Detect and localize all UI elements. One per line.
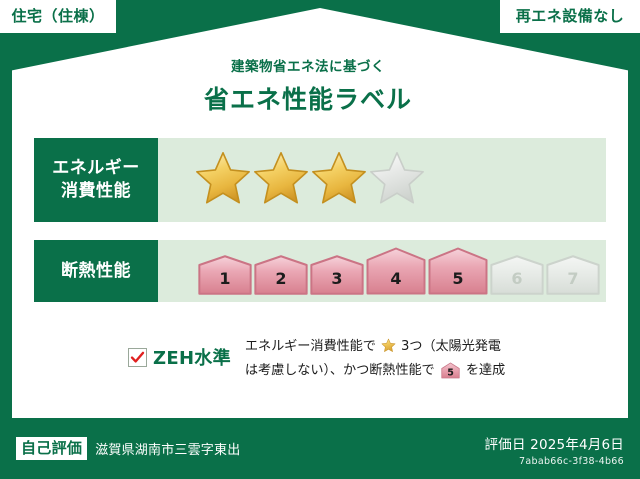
evaluation-date-value: 2025年4月6日 [530,437,624,453]
zeh-desc-part1: エネルギー消費性能で [245,339,376,354]
star-icon-filled [310,150,368,210]
insulation-label-text: 断熱性能 [61,260,131,283]
star-icon-empty [368,150,426,210]
property-address: 滋賀県湖南市三雲字東出 [95,439,240,458]
energy-label-line2: 消費性能 [61,180,131,203]
checkmark-icon [128,348,147,367]
star-icon-inline [377,342,400,357]
title-block: 建築物省エネ法に基づく 省エネ性能ラベル [0,55,616,116]
insulation-level-number: 5 [428,271,488,287]
insulation-level-scale: 1234567 [198,247,600,295]
insulation-level-number: 3 [310,271,364,287]
insulation-performance-label: 断熱性能 [34,240,158,302]
insulation-performance-value: 1234567 [158,240,606,302]
insulation-level-on: 5 [428,247,488,295]
badge-renewable-energy: 再エネ設備なし [500,0,640,33]
badge-building-type: 住宅（住棟） [0,0,116,33]
page-title: 省エネ性能ラベル [0,80,616,116]
insulation-level-number: 4 [366,271,426,287]
insulation-level-number: 1 [198,271,252,287]
svg-text:5: 5 [447,368,454,379]
zeh-standard-label: ZEH水準 [153,344,231,370]
energy-performance-label: 住宅（住棟） 再エネ設備なし 建築物省エネ法に基づく 省エネ性能ラベル エネルギ… [0,0,640,479]
evaluation-date-label: 評価日 [485,437,526,453]
insulation-level-off: 7 [546,255,600,295]
insulation-level-number: 6 [490,271,544,287]
insulation-level-off: 6 [490,255,544,295]
zeh-tag: ZEH水準 [128,336,231,370]
evaluation-date: 評価日 2025年4月6日 [485,433,624,453]
insulation-level-on: 3 [310,255,364,295]
zeh-desc-star-count: 3つ（太陽光発電 [401,339,501,354]
insulation-level-on: 1 [198,255,252,295]
insulation-level-on: 4 [366,247,426,295]
insulation-level-number: 2 [254,271,308,287]
zeh-block: ZEH水準 エネルギー消費性能で 3つ（太陽光発電 は考慮しない）、かつ断熱性能… [128,336,528,387]
insulation-performance-row: 断熱性能 1234567 [34,240,606,302]
footer-right: 評価日 2025年4月6日 7abab66c-3f38-4b66 [485,433,624,467]
insulation-level-number: 7 [546,271,600,287]
footer: 自己評価 滋賀県湖南市三雲字東出 評価日 2025年4月6日 7abab66c-… [0,423,640,479]
insulation-level-on: 2 [254,255,308,295]
zeh-desc-part3: を達成 [466,363,505,378]
title-subtitle: 建築物省エネ法に基づく [0,55,616,75]
energy-label-line1: エネルギー [52,157,140,180]
energy-performance-value [158,138,606,222]
zeh-desc-part2: は考慮しない）、かつ断熱性能で [245,363,435,378]
evaluation-id: 7abab66c-3f38-4b66 [485,456,624,467]
star-icon-filled [252,150,310,210]
self-evaluation-badge: 自己評価 [16,437,87,460]
star-icon-filled [194,150,252,210]
star-rating [194,150,426,210]
house-icon-inline: 5 [437,368,464,383]
footer-left: 自己評価 滋賀県湖南市三雲字東出 [16,437,240,460]
energy-performance-row: エネルギー 消費性能 [34,138,606,222]
energy-performance-label: エネルギー 消費性能 [34,138,158,222]
zeh-description: エネルギー消費性能で 3つ（太陽光発電 は考慮しない）、かつ断熱性能で [245,336,505,387]
